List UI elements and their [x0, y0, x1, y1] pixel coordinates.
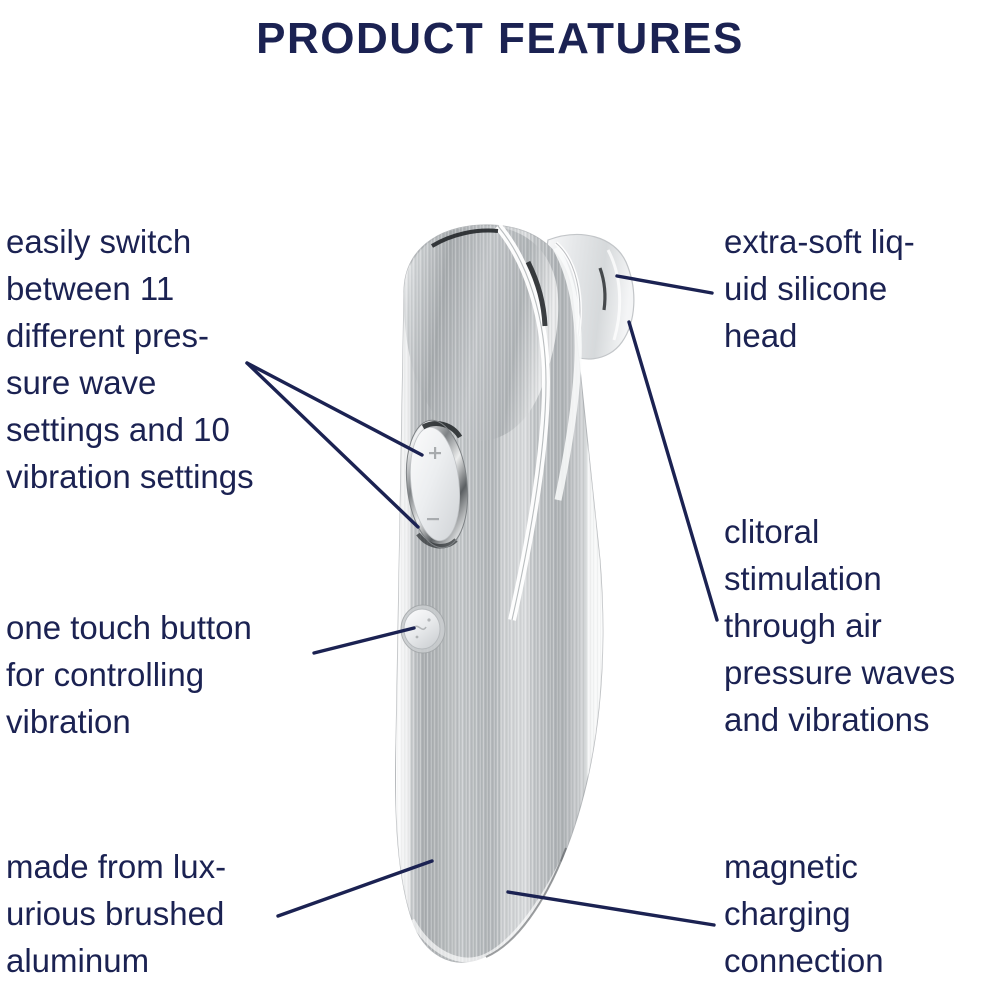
callout-brushed-aluminum: made from lux- urious brushed aluminum: [6, 843, 316, 984]
leader-line-magnetic: [508, 892, 714, 925]
callout-pressure-settings: easily switch between 11 different pres-…: [6, 218, 336, 500]
pressure-decrease-icon[interactable]: [427, 518, 439, 520]
callout-magnetic-charging: magnetic charging connection: [724, 843, 994, 984]
callout-one-touch-button: one touch button for controlling vibrati…: [6, 604, 336, 745]
leader-line-clitoral: [629, 322, 717, 620]
callout-clitoral-stimulation: clitoral stimulation through air pressur…: [724, 508, 1000, 743]
callout-silicone-head: extra-soft liq- uid silicone head: [724, 218, 1000, 359]
product-features-infographic: PRODUCT FEATURES: [0, 0, 1000, 1000]
product-body-group: [390, 220, 634, 980]
